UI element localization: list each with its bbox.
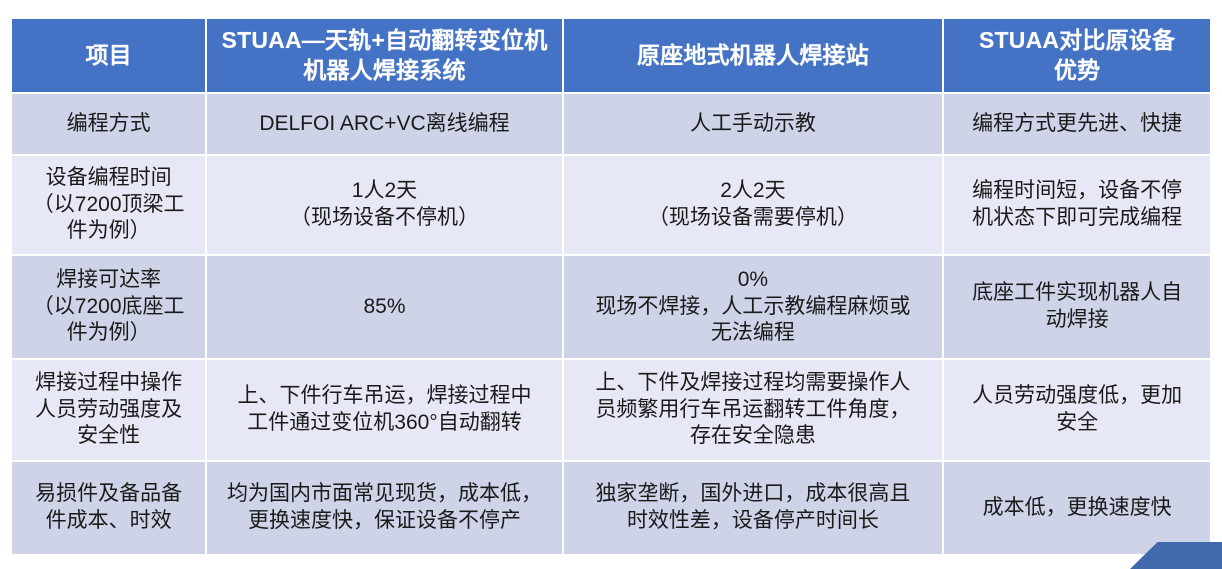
column-header-item: 项目 — [12, 19, 205, 92]
cell-text-line: 件为例） — [20, 320, 197, 347]
cell-text-line: DELFOI ARC+VC离线编程 — [215, 111, 553, 138]
cell-text-line: 易损件及备品备 — [20, 481, 197, 508]
cell-stuaa-system: DELFOI ARC+VC离线编程 — [207, 94, 561, 154]
column-header-legacy-station: 原座地式机器人焊接站 — [564, 19, 943, 92]
cell-text-line: 1人2天 — [215, 178, 553, 205]
header-line: 原座地式机器人焊接站 — [572, 41, 935, 70]
table-row: 焊接过程中操作人员劳动强度及安全性 上、下件行车吊运，焊接过程中工件通过变位机3… — [12, 360, 1210, 460]
cell-text-line: 更换速度快，保证设备不停产 — [215, 508, 553, 535]
row-label-lines: 设备编程时间（以7200顶梁工件为例） — [20, 165, 197, 246]
cell-advantage: 底座工件实现机器人自动焊接 — [944, 256, 1210, 358]
cell-text-line: 无法编程 — [572, 320, 935, 347]
cell-text-line: 2人2天 — [572, 178, 935, 205]
cell-text-line: 机状态下即可完成编程 — [952, 205, 1202, 232]
row-label-cell: 设备编程时间（以7200顶梁工件为例） — [12, 156, 205, 254]
table-header: 项目 STUAA—天轨+自动翻转变位机 机器人焊接系统 原座地式机器人焊接站 S… — [12, 19, 1210, 92]
cell-text-line: 均为国内市面常见现货，成本低， — [215, 481, 553, 508]
cell-text-line: 动焊接 — [952, 307, 1202, 334]
cell-text-line: （现场设备需要停机） — [572, 205, 935, 232]
cell-text-line: 编程方式 — [20, 111, 197, 138]
row-label-lines: 编程方式 — [20, 111, 197, 138]
row-label-lines: 易损件及备品备件成本、时效 — [20, 481, 197, 535]
cell-legacy-station: 0%现场不焊接，人工示教编程麻烦或无法编程 — [564, 256, 943, 358]
comparison-table: 项目 STUAA—天轨+自动翻转变位机 机器人焊接系统 原座地式机器人焊接站 S… — [10, 17, 1212, 556]
table-row: 焊接可达率（以7200底座工件为例） 85% 0%现场不焊接，人工示教编程麻烦或… — [12, 256, 1210, 358]
cell-text-line: 编程时间短，设备不停 — [952, 178, 1202, 205]
cell-text-line: 工件通过变位机360°自动翻转 — [215, 410, 553, 437]
cell-text-line: 0% — [572, 267, 935, 294]
cell-text-line: 时效性差，设备停产时间长 — [572, 508, 935, 535]
cell-text-line: 独家垄断，国外进口，成本很高且 — [572, 481, 935, 508]
cell-advantage: 编程方式更先进、快捷 — [944, 94, 1210, 154]
header-line: STUAA对比原设备 — [952, 26, 1202, 55]
table-row: 易损件及备品备件成本、时效 均为国内市面常见现货，成本低，更换速度快，保证设备不… — [12, 462, 1210, 554]
table-body: 编程方式 DELFOI ARC+VC离线编程 人工手动示教 编程方式更先进、快捷… — [12, 94, 1210, 554]
cell-text-line: 上、下件行车吊运，焊接过程中 — [215, 383, 553, 410]
cell-text-line: 现场不焊接，人工示教编程麻烦或 — [572, 294, 935, 321]
cell-advantage: 编程时间短，设备不停机状态下即可完成编程 — [944, 156, 1210, 254]
cell-text-line: 焊接可达率 — [20, 267, 197, 294]
cell-stuaa-system: 上、下件行车吊运，焊接过程中工件通过变位机360°自动翻转 — [207, 360, 561, 460]
header-line: 优势 — [952, 56, 1202, 85]
cell-text-line: 人员劳动强度及 — [20, 397, 197, 424]
cell-text-line: 安全 — [952, 410, 1202, 437]
cell-legacy-station: 2人2天（现场设备需要停机） — [564, 156, 943, 254]
cell-text-line: 焊接过程中操作 — [20, 370, 197, 397]
cell-text-line: 员频繁用行车吊运翻转工件角度， — [572, 397, 935, 424]
cell-text-line: 存在安全隐患 — [572, 423, 935, 450]
cell-text-line: 编程方式更先进、快捷 — [952, 111, 1202, 138]
row-label-cell: 焊接过程中操作人员劳动强度及安全性 — [12, 360, 205, 460]
cell-advantage: 人员劳动强度低，更加安全 — [944, 360, 1210, 460]
header-row: 项目 STUAA—天轨+自动翻转变位机 机器人焊接系统 原座地式机器人焊接站 S… — [12, 19, 1210, 92]
table-row: 编程方式 DELFOI ARC+VC离线编程 人工手动示教 编程方式更先进、快捷 — [12, 94, 1210, 154]
column-header-advantage: STUAA对比原设备 优势 — [944, 19, 1210, 92]
cell-advantage: 成本低，更换速度快 — [944, 462, 1210, 554]
cell-text-line: 件为例） — [20, 218, 197, 245]
cell-stuaa-system: 均为国内市面常见现货，成本低，更换速度快，保证设备不停产 — [207, 462, 561, 554]
table-row: 设备编程时间（以7200顶梁工件为例） 1人2天（现场设备不停机） 2人2天（现… — [12, 156, 1210, 254]
cell-legacy-station: 上、下件及焊接过程均需要操作人员频繁用行车吊运翻转工件角度，存在安全隐患 — [564, 360, 943, 460]
cell-text-line: 设备编程时间 — [20, 165, 197, 192]
cell-text-line: 上、下件及焊接过程均需要操作人 — [572, 370, 935, 397]
cell-legacy-station: 独家垄断，国外进口，成本很高且时效性差，设备停产时间长 — [564, 462, 943, 554]
cell-text-line: （以7200顶梁工 — [20, 192, 197, 219]
row-label-lines: 焊接过程中操作人员劳动强度及安全性 — [20, 370, 197, 451]
cell-text-line: 底座工件实现机器人自 — [952, 280, 1202, 307]
cell-text-line: 成本低，更换速度快 — [952, 495, 1202, 522]
header-line: 机器人焊接系统 — [215, 56, 553, 85]
cell-text-line: 85% — [215, 294, 553, 321]
cell-text-line: （现场设备不停机） — [215, 205, 553, 232]
cell-text-line: （以7200底座工 — [20, 294, 197, 321]
cell-stuaa-system: 1人2天（现场设备不停机） — [207, 156, 561, 254]
row-label-cell: 焊接可达率（以7200底座工件为例） — [12, 256, 205, 358]
header-line: STUAA—天轨+自动翻转变位机 — [215, 26, 553, 55]
row-label-cell: 编程方式 — [12, 94, 205, 154]
header-line: 项目 — [20, 41, 197, 70]
cell-text-line: 人员劳动强度低，更加 — [952, 383, 1202, 410]
row-label-lines: 焊接可达率（以7200底座工件为例） — [20, 267, 197, 348]
cell-stuaa-system: 85% — [207, 256, 561, 358]
cell-text-line: 人工手动示教 — [572, 111, 935, 138]
cell-text-line: 件成本、时效 — [20, 508, 197, 535]
row-label-cell: 易损件及备品备件成本、时效 — [12, 462, 205, 554]
cell-text-line: 安全性 — [20, 423, 197, 450]
column-header-stuaa-system: STUAA—天轨+自动翻转变位机 机器人焊接系统 — [207, 19, 561, 92]
cell-legacy-station: 人工手动示教 — [564, 94, 943, 154]
